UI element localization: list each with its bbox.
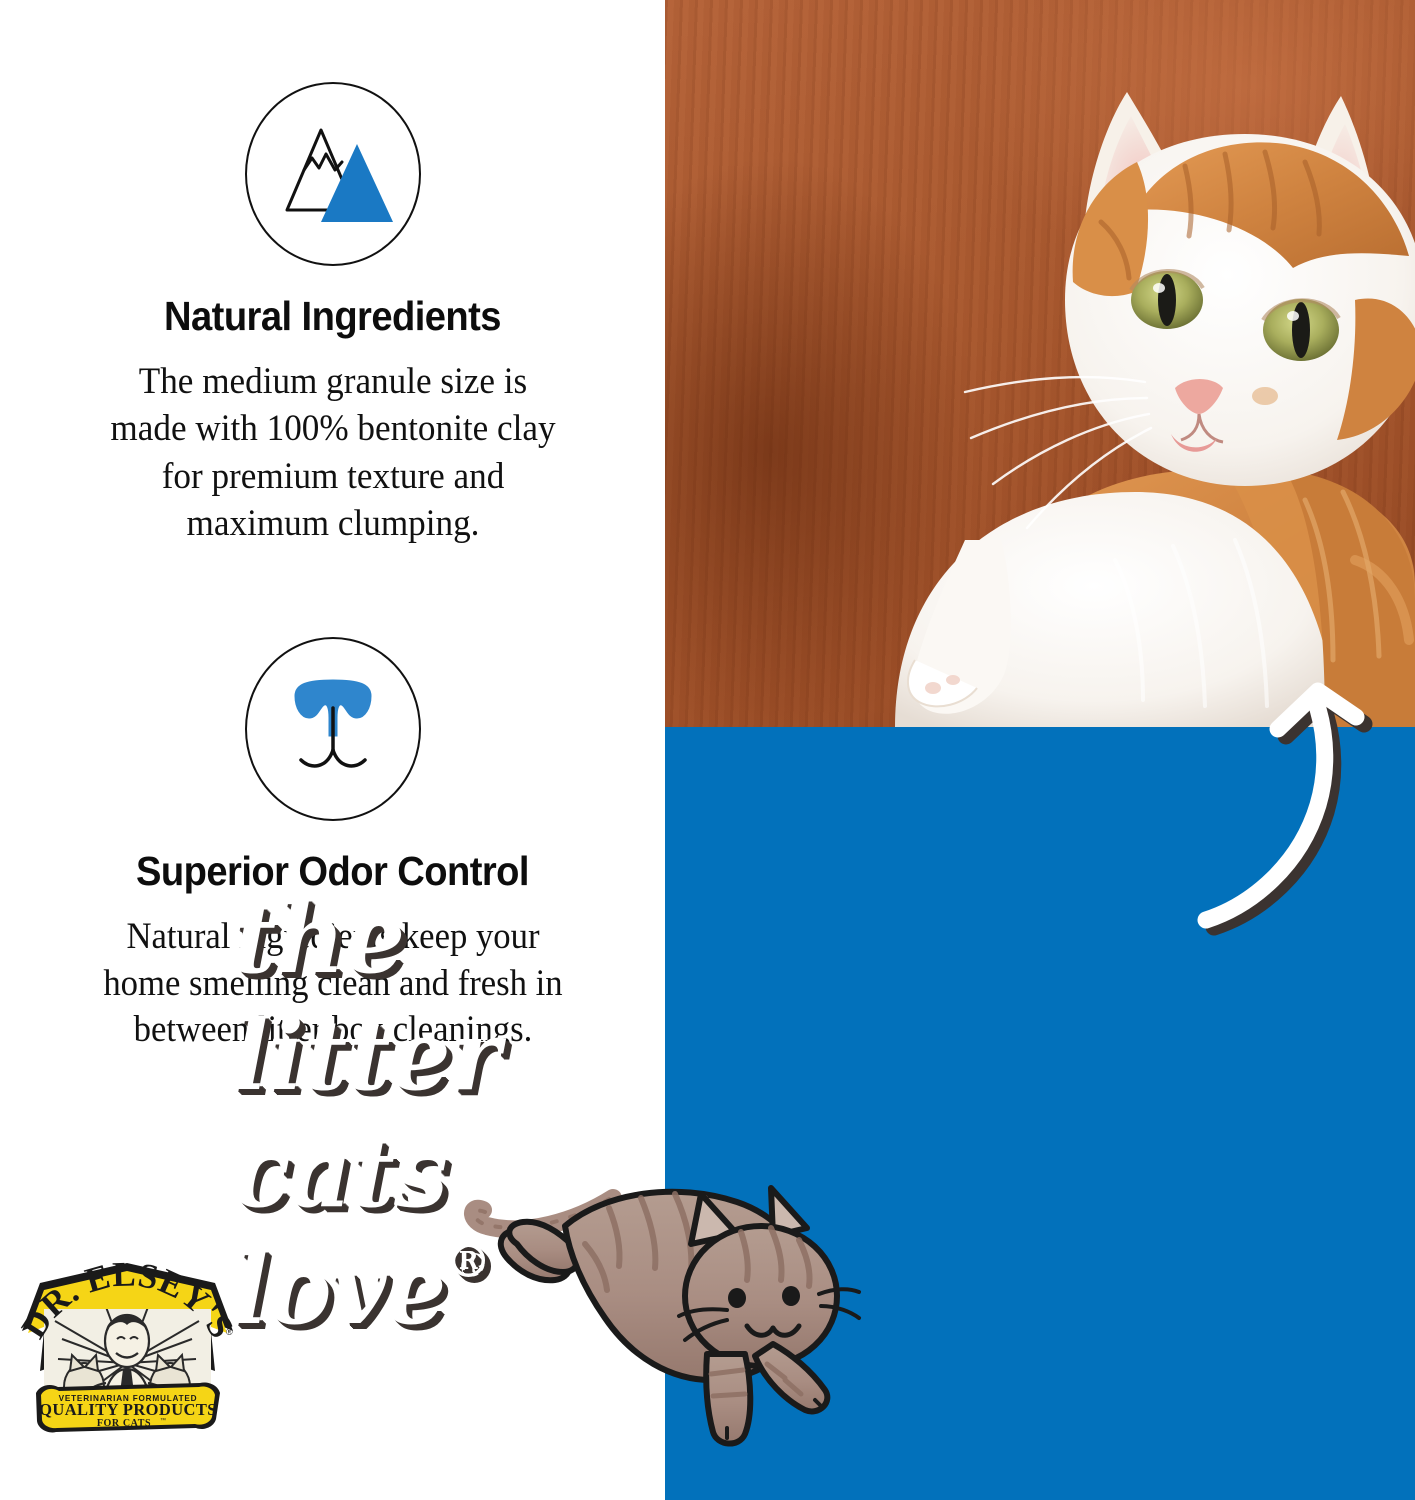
feature-body-line: for premium texture and bbox=[48, 453, 618, 500]
cat-nose-icon-glyph bbox=[277, 674, 389, 784]
feature-block-natural-ingredients: Natural Ingredients The medium granule s… bbox=[0, 82, 665, 547]
dr-elseys-logo: DR. ELSEY'S ® VETERINARIAN FORMULATED QU… bbox=[10, 1243, 245, 1443]
logo-banner-line-2: QUALITY PRODUCTS bbox=[39, 1400, 217, 1419]
curved-up-arrow-icon bbox=[1160, 655, 1400, 955]
mountains-icon-glyph bbox=[269, 114, 397, 234]
cat-photo-illustration bbox=[665, 0, 1415, 727]
tagline-line-1: the bbox=[232, 880, 702, 997]
mountains-icon bbox=[245, 82, 421, 266]
feature-title: Natural Ingredients bbox=[23, 295, 641, 338]
feature-body-line: The medium granule size is bbox=[48, 358, 618, 405]
logo-banner-line-3: FOR CATS bbox=[97, 1418, 151, 1429]
logo-banner-trademark: ™ bbox=[160, 1417, 166, 1424]
orange-white-cat-photo bbox=[665, 0, 1415, 727]
feature-body-line: made with 100% bentonite clay bbox=[48, 405, 618, 452]
cat-nose-icon bbox=[245, 637, 421, 821]
product-feature-panel: Natural Ingredients The medium granule s… bbox=[0, 0, 1415, 1500]
curved-up-arrow-glyph bbox=[1160, 655, 1400, 955]
leaping-cat-glyph bbox=[455, 1148, 865, 1448]
dr-elseys-logo-glyph: DR. ELSEY'S ® VETERINARIAN FORMULATED QU… bbox=[10, 1243, 245, 1443]
tagline-line-2: litter bbox=[232, 997, 702, 1114]
leaping-cartoon-cat-illustration bbox=[455, 1148, 865, 1448]
tagline-word-love: love bbox=[232, 1233, 445, 1346]
feature-body: The medium granule size is made with 100… bbox=[48, 358, 618, 547]
feature-body-line: maximum clumping. bbox=[48, 500, 618, 547]
